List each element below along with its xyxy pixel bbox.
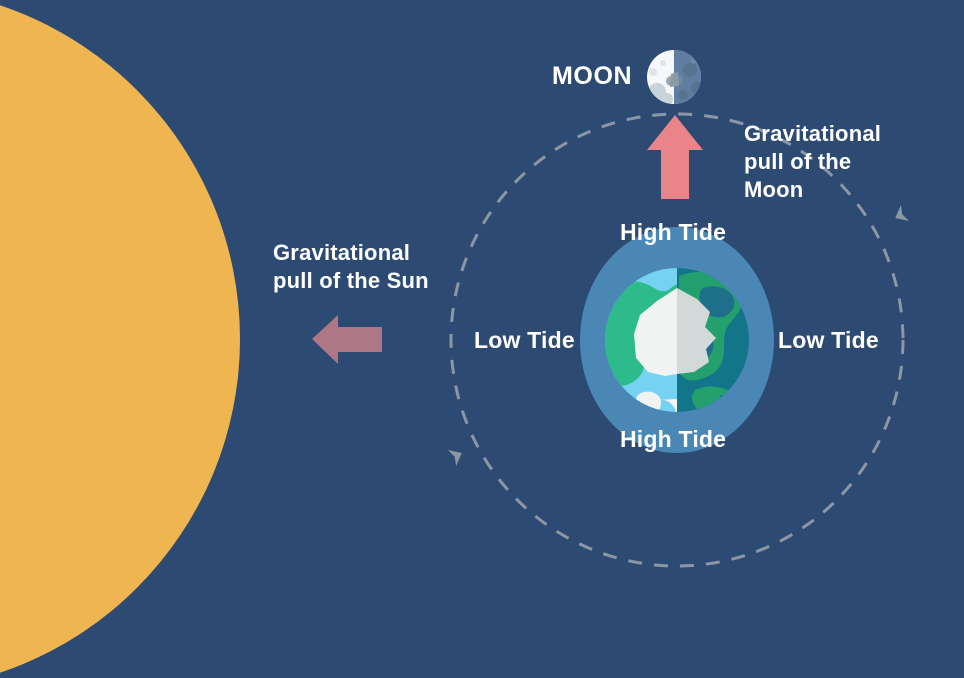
gravitational-pull-moon-label: Gravitational pull of the Moon: [744, 120, 881, 204]
gravitational-pull-sun-label: Gravitational pull of the Sun: [273, 239, 429, 295]
tides-diagram: MOON Gravitational pull of the Moon Grav…: [0, 0, 964, 678]
high-tide-top-label: High Tide: [620, 218, 726, 246]
high-tide-bottom-label: High Tide: [620, 425, 726, 453]
moon-label: MOON: [552, 61, 632, 92]
low-tide-right-label: Low Tide: [778, 326, 879, 354]
low-tide-left-label: Low Tide: [474, 326, 575, 354]
